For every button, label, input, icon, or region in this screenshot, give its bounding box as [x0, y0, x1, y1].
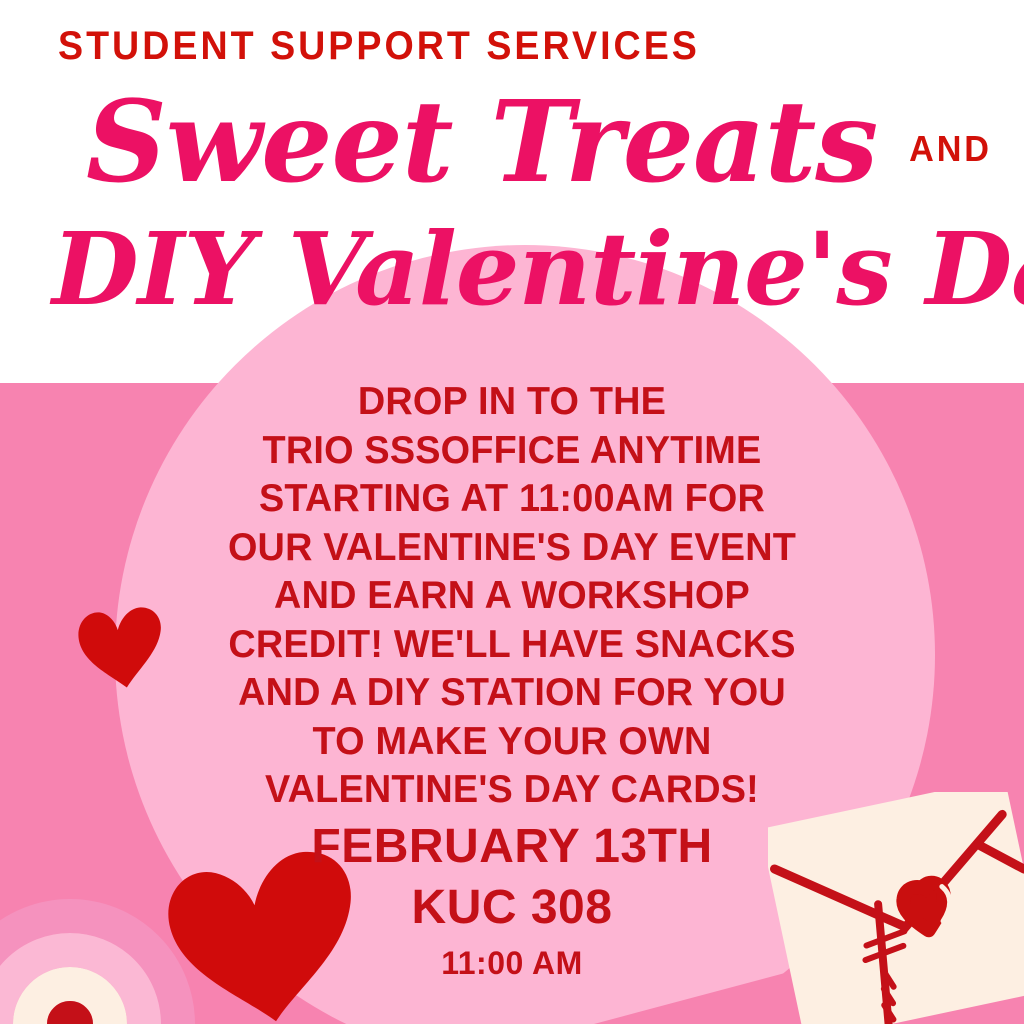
description-line: CREDIT! WE'LL HAVE SNACKS [180, 621, 843, 670]
title-diy-valentines-day-cards: DIY Valentine's Day Cards [52, 222, 1024, 317]
description-line: AND EARN A WORKSHOP [180, 572, 843, 621]
event-time: 11:00 AM [170, 940, 854, 986]
event-description: DROP IN TO THE TRIO SSSOFFICE ANYTIME ST… [180, 378, 843, 815]
description-line: VALENTINE'S DAY CARDS! [180, 766, 843, 815]
description-line: AND A DIY STATION FOR YOU [180, 669, 843, 718]
event-date: FEBRUARY 13TH [170, 818, 854, 876]
title-line-one-row: Sweet Treats AND [86, 90, 994, 196]
title-line-two-row: DIY Valentine's Day Cards [52, 222, 1024, 317]
heart-icon-small [70, 596, 170, 692]
event-location: KUC 308 [170, 876, 854, 940]
description-line: STARTING AT 11:00AM FOR [180, 475, 843, 524]
description-line: DROP IN TO THE [180, 378, 843, 427]
valentines-event-flyer: STUDENT SUPPORT SERVICES Sweet Treats AN… [0, 0, 1024, 1024]
description-line: OUR VALENTINE'S DAY EVENT [180, 524, 843, 573]
event-details: FEBRUARY 13TH KUC 308 11:00 AM [170, 818, 854, 986]
organization-kicker: STUDENT SUPPORT SERVICES [58, 24, 700, 69]
title-sweet-treats: Sweet Treats [86, 90, 877, 196]
title-conjunction-and: AND [910, 128, 993, 170]
description-line: TRIO SSSOFFICE ANYTIME [180, 427, 843, 476]
description-line: TO MAKE YOUR OWN [180, 718, 843, 767]
